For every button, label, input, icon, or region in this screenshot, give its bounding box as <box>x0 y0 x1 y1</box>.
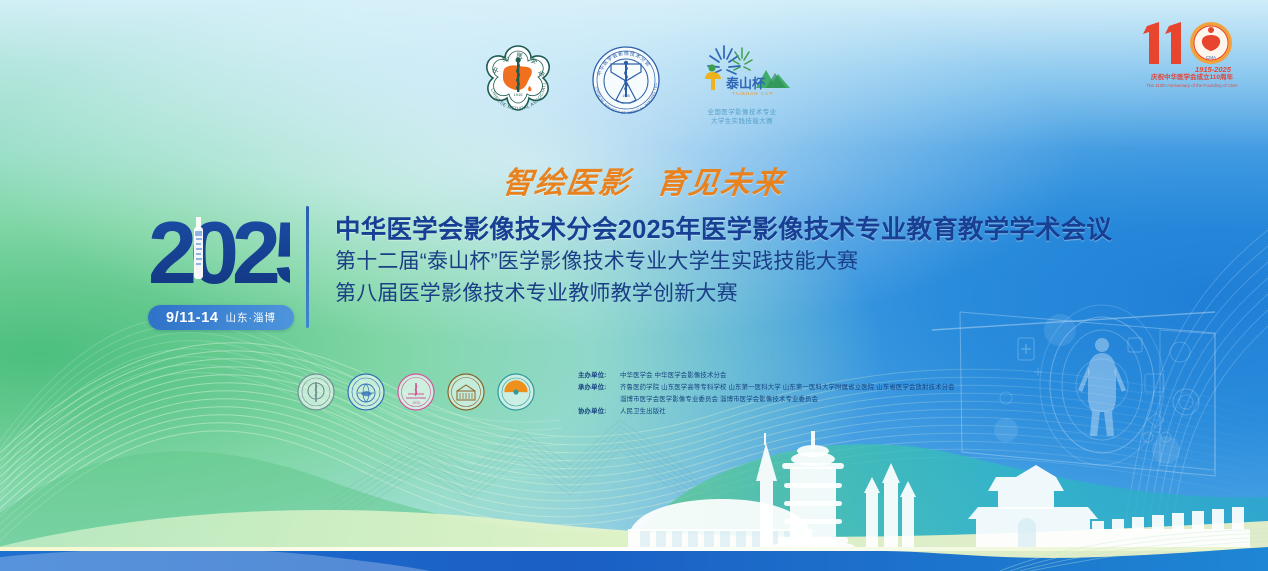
top-logo-row: 1915 中 华 医 学 会 CHINESE MEDICAL ASSOCIATI… <box>0 40 1268 138</box>
year-block: 2025 9/11-14 山东·淄博 <box>150 205 290 327</box>
conference-subtitle-1: 第十二届“泰山杯”医学影像技术专业大学生实践技能大赛 <box>335 246 1165 278</box>
conference-subtitle-2: 第八届医学影像技术专业教师教学创新大赛 <box>335 278 1165 310</box>
anniversary-logo: CMA 1915-2025 庆祝中华医学会成立110周年 The 110th A… <box>1130 16 1254 100</box>
slogan: 智绘医影 育见未来 <box>494 158 794 202</box>
svg-text:1915: 1915 <box>514 92 524 97</box>
logo-taishan-cup: 泰山杯 TAISHAN CUP 全国医学影像技术专业 大学生实践技能大赛 <box>690 40 794 127</box>
svg-text:TAISHAN CUP: TAISHAN CUP <box>732 91 774 96</box>
cma-logo-icon: 1915 中 华 医 学 会 CHINESE MEDICAL ASSOCIATI… <box>474 40 562 126</box>
imaging-branch-logo-icon: 1995 中华医学会影像技术分会 CHINESE SOCIETY OF MEDI… <box>586 40 666 122</box>
anniversary-line-cn: 庆祝中华医学会成立110周年 <box>1151 74 1233 83</box>
slogan-part-2: 育见未来 <box>654 158 787 202</box>
title-block: 中华医学会影像技术分会2025年医学影像技术专业教育教学学术会议 第十二届“泰山… <box>335 215 1165 310</box>
city-label: 山东·淄博 <box>226 310 277 325</box>
svg-text:1995: 1995 <box>622 94 630 98</box>
city-skyline-graphic <box>0 371 1268 571</box>
conference-main-title: 中华医学会影像技术分会2025年医学影像技术专业教育教学学术会议 <box>335 215 1165 246</box>
logo-chinese-medical-association: 1915 中 华 医 学 会 CHINESE MEDICAL ASSOCIATI… <box>474 40 562 126</box>
slogan-part-1: 智绘医影 <box>500 158 633 202</box>
svg-text:泰山杯: 泰山杯 <box>725 76 766 92</box>
taishan-cup-caption: 全国医学影像技术专业 大学生实践技能大赛 <box>708 108 777 127</box>
logo-imaging-technology-branch: 1995 中华医学会影像技术分会 CHINESE SOCIETY OF MEDI… <box>586 40 666 122</box>
date-range: 9/11-14 <box>166 310 219 326</box>
title-divider <box>306 206 309 328</box>
conference-banner: 1915 中 华 医 学 会 CHINESE MEDICAL ASSOCIATI… <box>0 0 1268 571</box>
date-pill: 9/11-14 山东·淄博 <box>148 305 294 330</box>
anniversary-years: 1915-2025 <box>1195 65 1232 74</box>
taishan-cup-logo-icon: 泰山杯 TAISHAN CUP <box>690 40 794 106</box>
anniversary-line-en: The 110th Anniversary of the Founding of… <box>1146 83 1237 89</box>
year-2025-graphic: 2025 <box>150 205 290 301</box>
svg-text:CMA: CMA <box>1206 55 1217 60</box>
anniversary-110-icon: CMA 1915-2025 <box>1133 16 1251 74</box>
year-text: 2025 <box>150 205 290 301</box>
